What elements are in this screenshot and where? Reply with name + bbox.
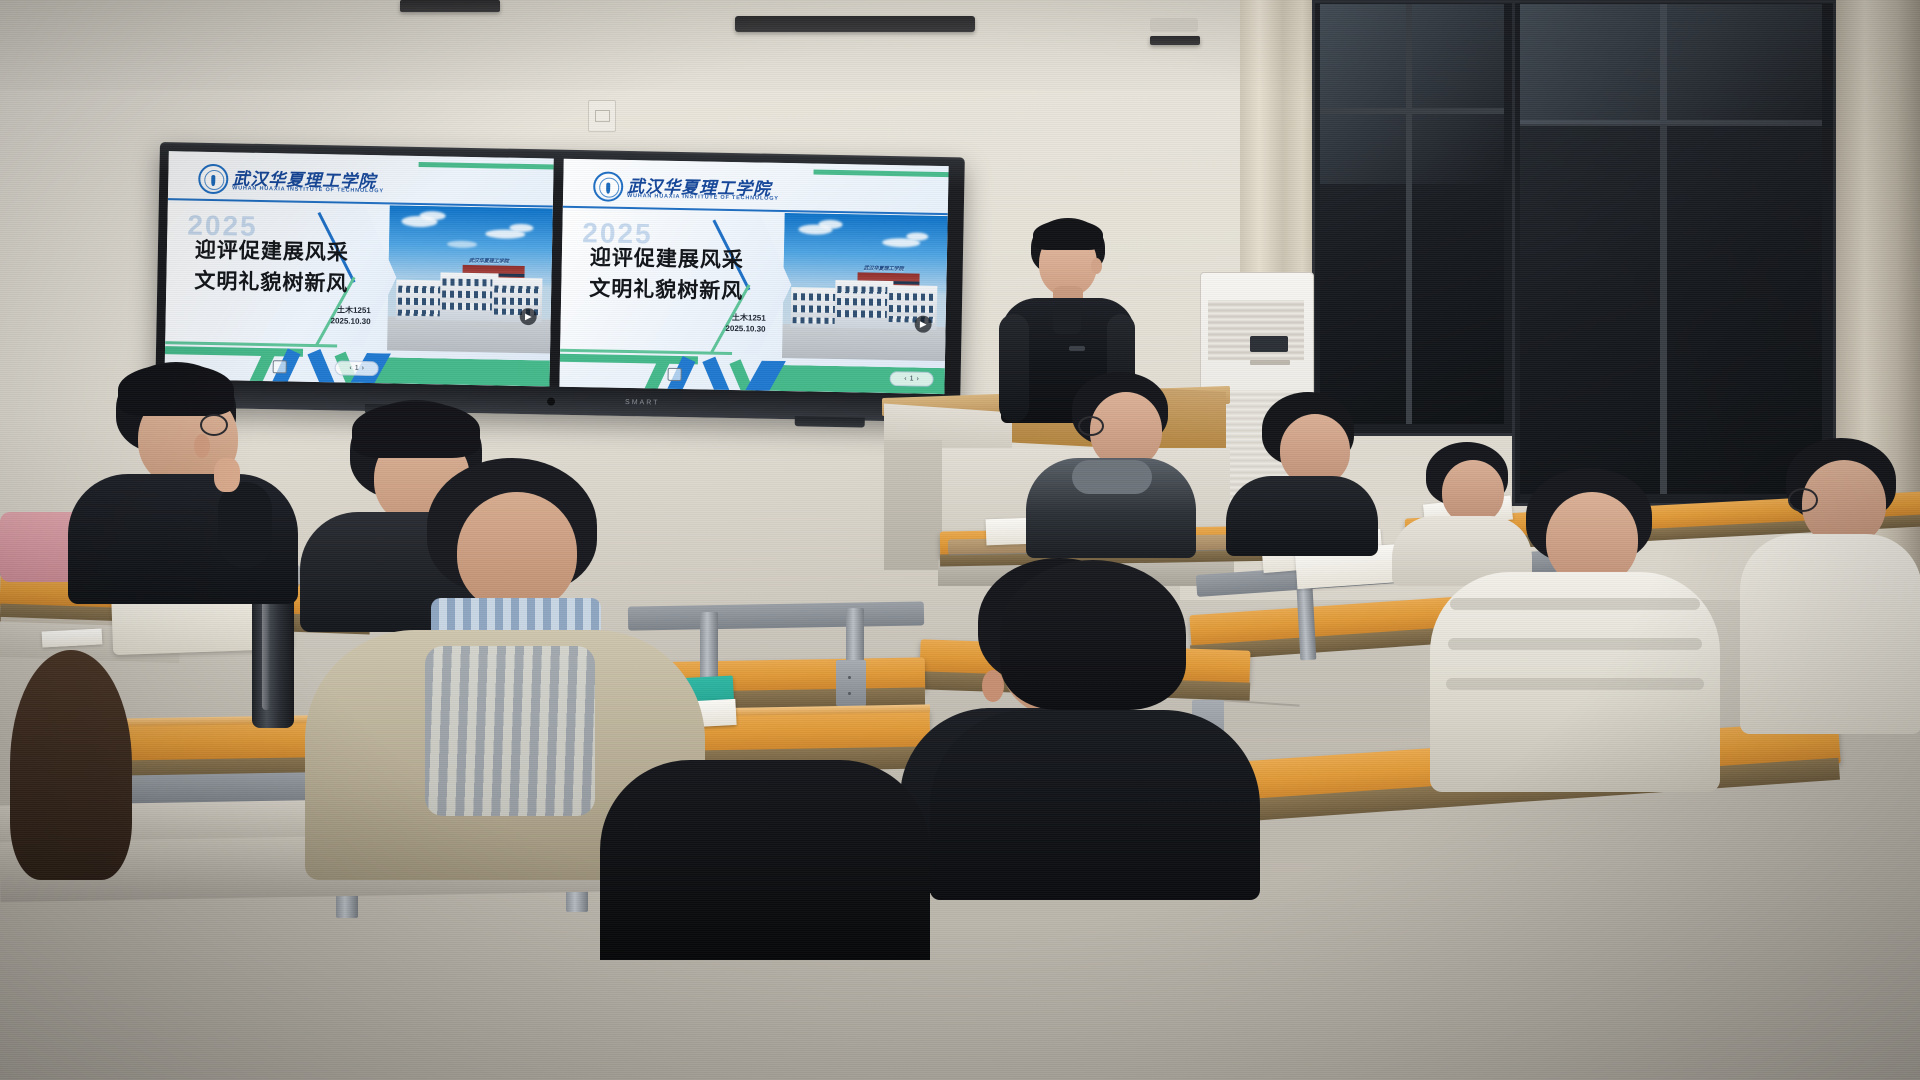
window-mullion (1320, 108, 1504, 114)
presenter-jacket-logo (1069, 346, 1085, 351)
presenter-ear (1091, 258, 1102, 274)
campus-photo-sign: 武汉华夏理工学院 (864, 265, 904, 273)
ac-brand-badge (1250, 360, 1290, 365)
left-display-panel[interactable]: 武汉华夏理工学院 WUHAN HUAXIA INSTITUTE OF TECHN… (164, 151, 553, 386)
wall-outlet[interactable] (588, 100, 616, 132)
university-seal (198, 164, 229, 195)
slide-title-line1: 迎评促建展风采 (195, 234, 350, 267)
university-seal (593, 171, 624, 202)
person-hand (214, 458, 240, 492)
paper-handout (42, 628, 103, 647)
slide-title-line1: 迎评促建展风采 (590, 241, 745, 274)
window-glare (1320, 4, 1504, 184)
presenter-collar (1053, 304, 1081, 334)
puffer-seam (1450, 598, 1700, 610)
header-green-bar (813, 170, 948, 178)
window-mullion (1406, 4, 1412, 424)
ceiling-light-panel (735, 16, 975, 32)
campus-photo: 武汉华夏理工学院 ▶ (387, 205, 553, 353)
eyeglasses (200, 414, 228, 436)
person-jacket (600, 760, 930, 960)
puffer-seam (1446, 678, 1704, 690)
hoodie-hood (1072, 460, 1152, 494)
bracket-screw (848, 676, 851, 679)
ac-display[interactable] (1250, 336, 1288, 352)
audience-person-front-dark (600, 760, 930, 960)
pager-page-number: 1 (910, 375, 914, 382)
audience-person-mid-right-b (1226, 392, 1378, 542)
header-green-bar (419, 162, 554, 170)
display-stand-foot (795, 416, 865, 427)
presenter-note-icon[interactable] (668, 368, 682, 381)
audience-person-glasses (68, 362, 298, 592)
audience-person-front-bottom (930, 560, 1260, 890)
bench-bracket (836, 660, 866, 706)
person-fringe (352, 402, 480, 458)
audience-person-white-puffer (1430, 468, 1720, 798)
pager-next-arrow[interactable]: › (916, 376, 918, 383)
audience-person-front-left (0, 650, 150, 890)
pager-page-number: 1 (355, 365, 359, 372)
audience-person-far-right (1740, 438, 1920, 738)
puffer-seam (1448, 638, 1702, 650)
bracket-screw (848, 692, 851, 695)
ceiling-light-panel (400, 0, 500, 12)
slide-left: 武汉华夏理工学院 WUHAN HUAXIA INSTITUTE OF TECHN… (164, 151, 553, 386)
person-hair (10, 650, 132, 880)
pager-next-arrow[interactable]: › (362, 365, 364, 372)
slide-title-line2: 文明礼貌树新风 (589, 272, 744, 305)
classroom-scene: 武汉华夏理工学院 WUHAN HUAXIA INSTITUTE OF TECHN… (0, 0, 1920, 1080)
audience-person-mid-right-a (1026, 372, 1196, 552)
window-glare (1520, 4, 1822, 124)
campus-photo-sign: 武汉华夏理工学院 (469, 257, 509, 265)
person-arm (218, 482, 272, 568)
slide-title-line2: 文明礼貌树新风 (194, 265, 349, 298)
bottle-highlight (262, 600, 270, 710)
person-plaid-shirt (425, 646, 595, 816)
slide-pager-right[interactable]: ‹ 1 › (889, 371, 933, 387)
slide-pager-left[interactable]: ‹ 1 › (335, 360, 379, 376)
pager-prev-arrow[interactable]: ‹ (904, 375, 906, 382)
person-jacket (1226, 476, 1378, 556)
person-white-jacket (1740, 534, 1920, 734)
eyeglasses (1788, 488, 1818, 512)
lectern-side (884, 440, 942, 570)
ceiling-mount-bracket (1150, 18, 1198, 32)
eyeglasses (1078, 416, 1104, 436)
presenter-arm-left (999, 314, 1029, 422)
pager-prev-arrow[interactable]: ‹ (349, 365, 351, 372)
person-fringe (118, 364, 234, 416)
person-head (457, 492, 577, 612)
ceiling-light-panel (1150, 36, 1200, 45)
display-brand-logo: SMART (625, 399, 660, 407)
person-ear (194, 434, 210, 458)
display-ir-sensor (547, 397, 555, 405)
right-display-panel[interactable]: 武汉华夏理工学院 WUHAN HUAXIA INSTITUTE OF TECHN… (559, 159, 948, 394)
person-jacket (930, 710, 1260, 900)
campus-photo: 武汉华夏理工学院 ▶ (782, 213, 948, 361)
slide-right: 武汉华夏理工学院 WUHAN HUAXIA INSTITUTE OF TECHN… (559, 159, 948, 394)
person-hair (1000, 560, 1186, 710)
presenter-fringe (1033, 220, 1103, 250)
